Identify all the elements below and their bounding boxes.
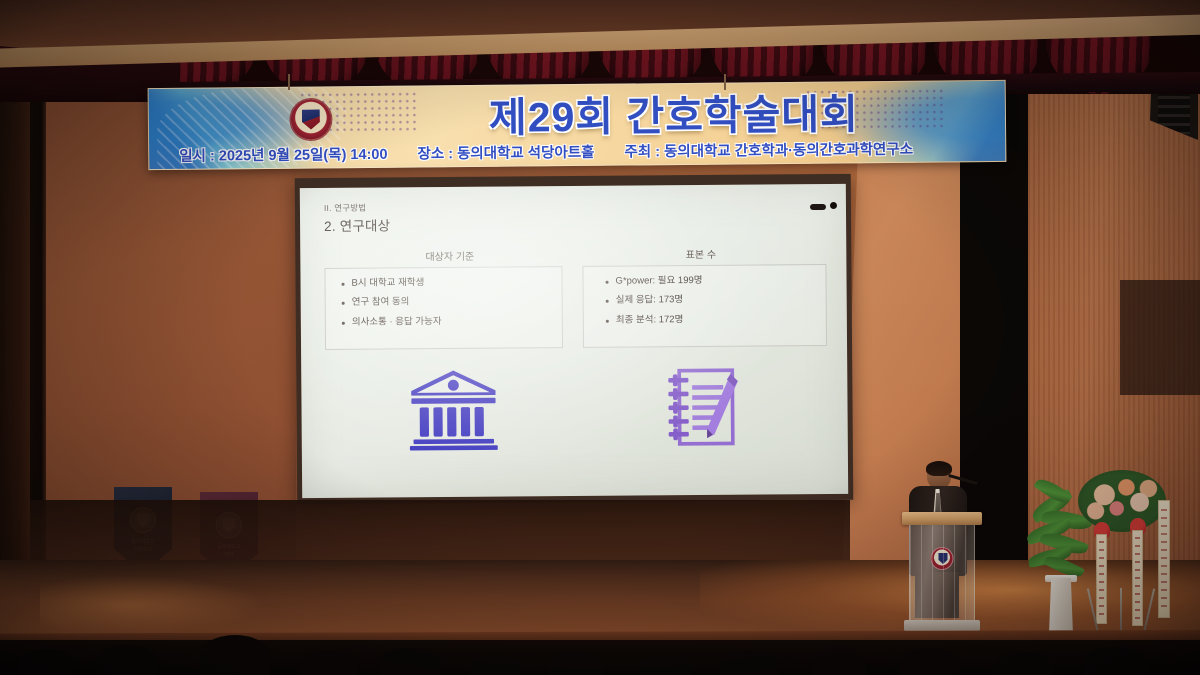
podium bbox=[902, 512, 982, 630]
audience-silhouettes bbox=[0, 640, 1200, 675]
bullet-text: 최종 분석: 172명 bbox=[616, 315, 684, 326]
list-item: 실제 응답: 173명 bbox=[606, 295, 820, 307]
side-congratulation-ribbon bbox=[1158, 500, 1170, 618]
notepad-pencil-icon bbox=[660, 365, 741, 452]
screen-edge-sensor-icon bbox=[810, 204, 826, 210]
conference-stage-photo: 제29회 간호학술대회 일시 : 2025년 9월 25일(목) 14:00 장… bbox=[0, 0, 1200, 675]
projection-screen: II. 연구방법 2. 연구대상 대상자 기준 표본 수 B시 대학교 재학생 … bbox=[300, 184, 848, 498]
icon-cell-right bbox=[576, 364, 824, 452]
column-header-sample: 표본 수 bbox=[575, 245, 826, 262]
icon-cell-left bbox=[329, 366, 577, 454]
podium-desktop bbox=[902, 512, 982, 525]
bullet-dot-icon bbox=[342, 322, 345, 325]
list-item: 최종 분석: 172명 bbox=[606, 314, 820, 326]
congratulatory-flower-stand bbox=[1076, 470, 1168, 635]
bullet-text: B시 대학교 재학생 bbox=[352, 278, 425, 289]
university-seal-icon bbox=[291, 99, 331, 139]
event-banner: 제29회 간호학술대회 일시 : 2025년 9월 25일(목) 14:00 장… bbox=[148, 80, 1007, 170]
bullet-dot-icon bbox=[606, 281, 609, 284]
list-item: G*power: 필요 199명 bbox=[605, 275, 819, 287]
bullet-dot-icon bbox=[342, 302, 345, 305]
stage-spotlight-left bbox=[40, 576, 260, 634]
banner-hook-right bbox=[724, 74, 726, 90]
bullet-dot-icon bbox=[606, 320, 609, 323]
sample-size-box: G*power: 필요 199명 실제 응답: 173명 최종 분석: 172명 bbox=[582, 264, 827, 348]
wall-recess-panel bbox=[1120, 280, 1200, 395]
university-emblem-icon bbox=[931, 547, 954, 570]
column-header-criteria: 대상자 기준 bbox=[324, 247, 575, 264]
screen-edge-dot-icon bbox=[830, 202, 837, 209]
bullet-text: 연구 참여 동의 bbox=[352, 298, 410, 309]
list-item: 연구 참여 동의 bbox=[342, 297, 556, 309]
criteria-box: B시 대학교 재학생 연구 참여 동의 의사소통 · 응답 가능자 bbox=[324, 266, 563, 350]
podium-base bbox=[904, 620, 980, 631]
flower-stand-tripod bbox=[1092, 588, 1150, 634]
list-item: B시 대학교 재학생 bbox=[342, 277, 556, 289]
banner-hook-left bbox=[288, 74, 290, 90]
bullet-text: G*power: 필요 199명 bbox=[615, 276, 702, 287]
banner-title: 제29회 간호학술대회 bbox=[344, 83, 1004, 141]
banner-host-label: 주최 : 동의대학교 간호학과·동의간호과학연구소 bbox=[624, 137, 913, 161]
bullet-dot-icon bbox=[342, 283, 345, 286]
podium-acrylic-panel bbox=[909, 525, 975, 621]
slide-icons-row bbox=[325, 364, 828, 454]
slide-column-headers: 대상자 기준 표본 수 bbox=[324, 245, 826, 264]
bullet-text: 실제 응답: 173명 bbox=[616, 296, 684, 307]
bullet-text: 의사소통 · 응답 가능자 bbox=[352, 317, 442, 328]
bullet-dot-icon bbox=[606, 300, 609, 303]
flower-bouquet bbox=[1078, 470, 1166, 532]
bank-building-icon bbox=[407, 367, 500, 454]
plant-pot bbox=[1048, 578, 1074, 633]
banner-place-label: 장소 : 동의대학교 석당아트홀 bbox=[417, 140, 594, 163]
banner-date-label: 일시 : 2025년 9월 25일(목) 14:00 bbox=[179, 142, 387, 165]
slide-title: 2. 연구대상 bbox=[324, 211, 826, 235]
slide-content-boxes: B시 대학교 재학생 연구 참여 동의 의사소통 · 응답 가능자 G*powe… bbox=[324, 264, 827, 350]
stage-backdrop-shadow bbox=[30, 500, 850, 562]
list-item: 의사소통 · 응답 가능자 bbox=[342, 316, 556, 328]
